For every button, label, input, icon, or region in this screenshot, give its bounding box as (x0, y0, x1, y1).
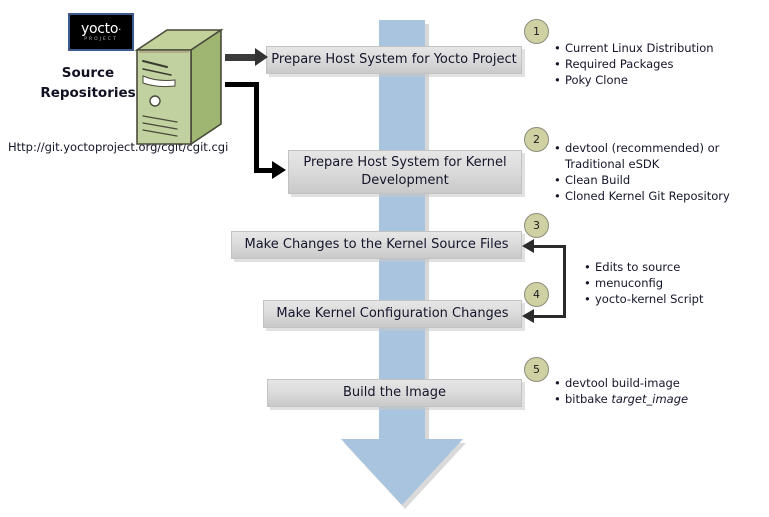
step-number-3: 3 (524, 213, 549, 238)
yocto-logo-word: yocto· (81, 22, 121, 36)
loop-connector-arrowhead-step4 (522, 309, 534, 323)
list-item: devtool build-image (554, 375, 688, 391)
loop-connector-bottom-horizontal (534, 315, 565, 318)
list-item: Clean Build (554, 172, 730, 188)
bullet-list-steps-3-and-4: Edits to source menuconfig yocto-kernel … (584, 259, 704, 307)
list-item-emphasis: target_image (611, 392, 688, 406)
loop-connector-vertical (563, 245, 566, 318)
loop-connector-arrowhead-step3 (522, 239, 534, 253)
flow-arrow-shaft (379, 20, 425, 440)
server-icon (133, 28, 225, 150)
flow-arrow-head (341, 439, 463, 505)
step-number-2: 2 (524, 127, 549, 152)
connector-server-to-step2-vertical (254, 82, 259, 173)
connector-server-to-step1-arrowhead (255, 48, 268, 66)
yocto-logo-dot: · (118, 25, 121, 36)
list-item: Required Packages (554, 56, 714, 72)
process-box-step-5[interactable]: Build the Image (267, 379, 522, 407)
list-item: yocto-kernel Script (584, 291, 704, 307)
loop-connector-top-horizontal (534, 245, 565, 248)
process-box-step-3[interactable]: Make Changes to the Kernel Source Files (231, 231, 522, 259)
connector-server-to-step1 (225, 54, 257, 61)
list-item: Poky Clone (554, 72, 714, 88)
process-box-step-1[interactable]: Prepare Host System for Yocto Project (266, 46, 522, 74)
process-box-step-2[interactable]: Prepare Host System for Kernel Developme… (288, 150, 522, 194)
yocto-logo-subtitle: PROJECT (84, 38, 117, 43)
yocto-project-logo: yocto· PROJECT (68, 13, 134, 51)
connector-server-to-step2-arrowhead (272, 161, 286, 179)
source-repositories-label: Source Repositories (28, 63, 148, 103)
list-item: menuconfig (584, 275, 704, 291)
list-item: bitbake target_image (554, 391, 688, 407)
process-box-step-4[interactable]: Make Kernel Configuration Changes (263, 300, 522, 328)
step-number-1: 1 (524, 19, 549, 44)
list-item: Cloned Kernel Git Repository (554, 188, 730, 204)
list-item-text: bitbake (565, 392, 611, 406)
list-item: devtool (recommended) or Traditional eSD… (554, 140, 730, 172)
list-item: Edits to source (584, 259, 704, 275)
bullet-list-step-2: devtool (recommended) or Traditional eSD… (554, 140, 730, 204)
step-number-5: 5 (524, 357, 549, 382)
bullet-list-step-5: devtool build-image bitbake target_image (554, 375, 688, 407)
list-item-text: devtool build-image (565, 376, 680, 390)
list-item: Current Linux Distribution (554, 40, 714, 56)
diagram-canvas: yocto· PROJECT Source Repositories Http:… (0, 0, 769, 517)
bullet-list-step-1: Current Linux Distribution Required Pack… (554, 40, 714, 88)
step-number-4: 4 (524, 282, 549, 307)
